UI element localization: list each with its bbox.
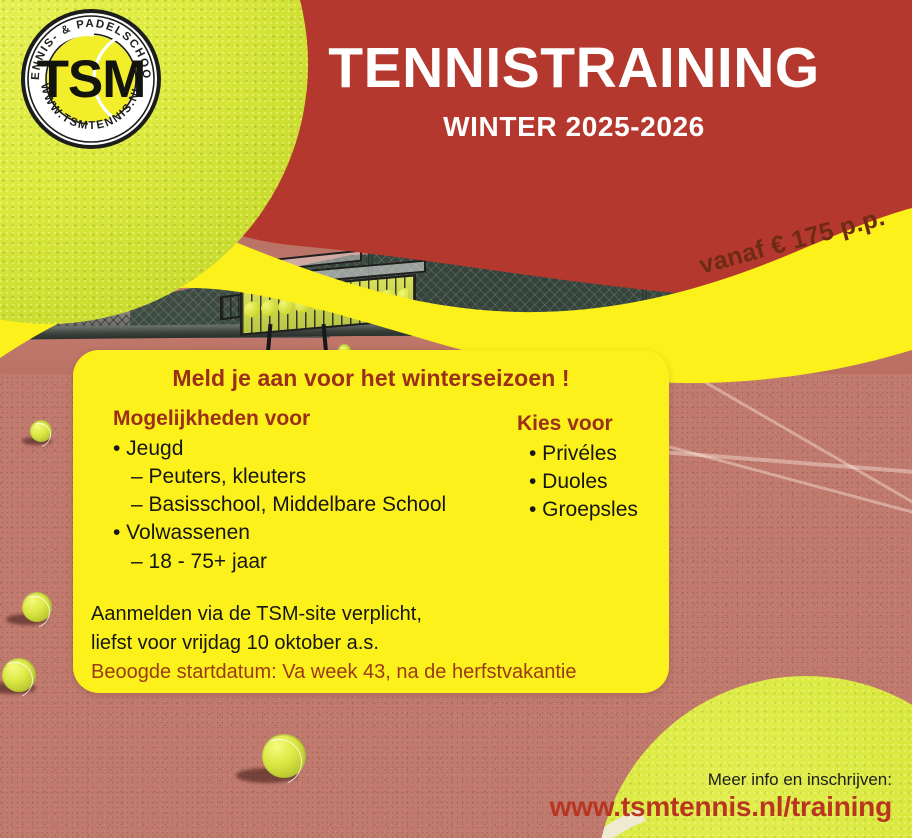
list-item: • Privéles xyxy=(513,440,669,468)
card-heading: Meld je aan voor het winterseizoen ! xyxy=(73,365,669,392)
registration-notes: Aanmelden via de TSM-site verplicht, lie… xyxy=(91,600,661,686)
possibilities-list: • Jeugd – Peuters, kleuters – Basisschoo… xyxy=(113,435,513,576)
list-item: – 18 - 75+ jaar xyxy=(113,548,513,576)
poster-root: TENNIS- & PADELSCHOOL WWW.TSMTENNIS.NL T… xyxy=(0,0,912,838)
list-item: – Basisschool, Middelbare School xyxy=(113,491,513,519)
info-card: Meld je aan voor het winterseizoen ! Mog… xyxy=(73,350,669,693)
footer-url[interactable]: www.tsmtennis.nl/training xyxy=(412,791,892,823)
logo-center-text: TSM xyxy=(37,50,146,109)
list-item: • Volwassenen xyxy=(113,519,513,547)
tennis-ball-1 xyxy=(30,420,52,442)
note-line: liefst voor vrijdag 10 oktober a.s. xyxy=(91,629,661,658)
lesson-types-list: • Privéles • Duoles • Groepsles xyxy=(513,440,669,524)
poster-title: TENNISTRAINING xyxy=(292,40,856,97)
tsm-logo[interactable]: TENNIS- & PADELSCHOOL WWW.TSMTENNIS.NL T… xyxy=(20,8,162,150)
poster-subtitle: WINTER 2025-2026 xyxy=(292,111,856,143)
header-text-block: TENNISTRAINING WINTER 2025-2026 xyxy=(292,40,856,143)
lesson-types-column: Kies voor • Privéles • Duoles • Groepsle… xyxy=(513,412,669,524)
list-item: • Jeugd xyxy=(113,435,513,463)
lesson-types-heading: Kies voor xyxy=(513,412,669,436)
possibilities-heading: Mogelijkheden voor xyxy=(113,407,513,431)
start-date-note: Beoogde startdatum: Va week 43, na de he… xyxy=(91,658,661,687)
tennis-ball-4 xyxy=(262,734,306,778)
possibilities-column: Mogelijkheden voor • Jeugd – Peuters, kl… xyxy=(113,407,513,576)
tennis-ball-2 xyxy=(22,592,52,622)
footer-block: Meer info en inschrijven: www.tsmtennis.… xyxy=(412,770,892,823)
list-item: • Groepsles xyxy=(513,496,669,524)
footer-lead: Meer info en inschrijven: xyxy=(412,770,892,790)
tennis-ball-3 xyxy=(2,658,36,692)
note-line: Aanmelden via de TSM-site verplicht, xyxy=(91,600,661,629)
list-item: • Duoles xyxy=(513,468,669,496)
list-item: – Peuters, kleuters xyxy=(113,463,513,491)
